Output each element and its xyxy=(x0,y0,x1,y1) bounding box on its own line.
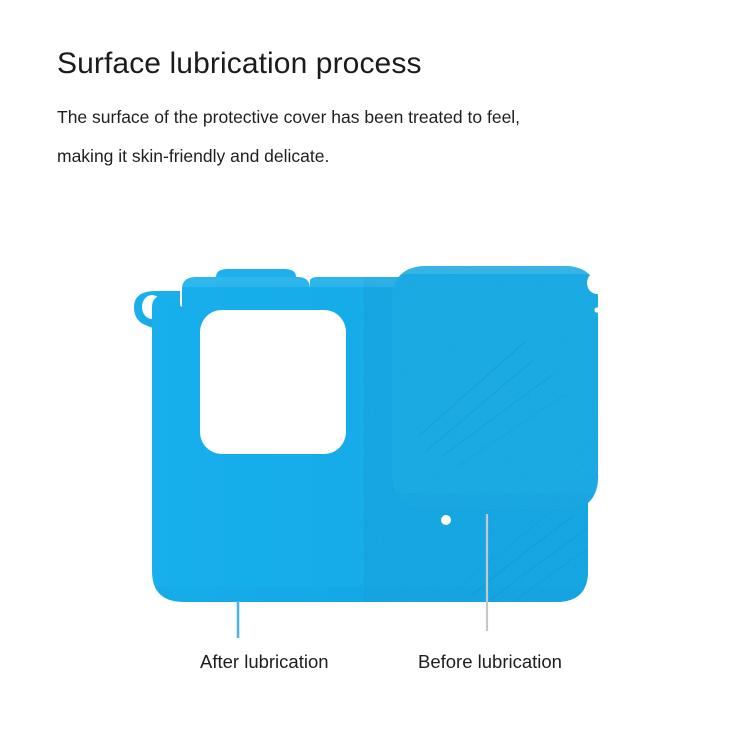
page-title: Surface lubrication process xyxy=(57,44,697,84)
lens-cap xyxy=(380,255,620,525)
microphone-hole xyxy=(441,515,451,525)
shutter-button-bump xyxy=(216,269,296,277)
product-image xyxy=(120,255,630,635)
intro-text-block: Surface lubrication process The surface … xyxy=(57,44,697,176)
caption-before-lubrication: Before lubrication xyxy=(418,651,562,673)
caption-after-lubrication: After lubrication xyxy=(200,651,329,673)
screen-cutout xyxy=(200,310,346,454)
description-paragraph: The surface of the protective cover has … xyxy=(57,98,697,176)
product-detail-page: Surface lubrication process The surface … xyxy=(0,0,750,750)
description-line-1: The surface of the protective cover has … xyxy=(57,98,697,137)
description-line-2: making it skin-friendly and delicate. xyxy=(57,137,697,176)
